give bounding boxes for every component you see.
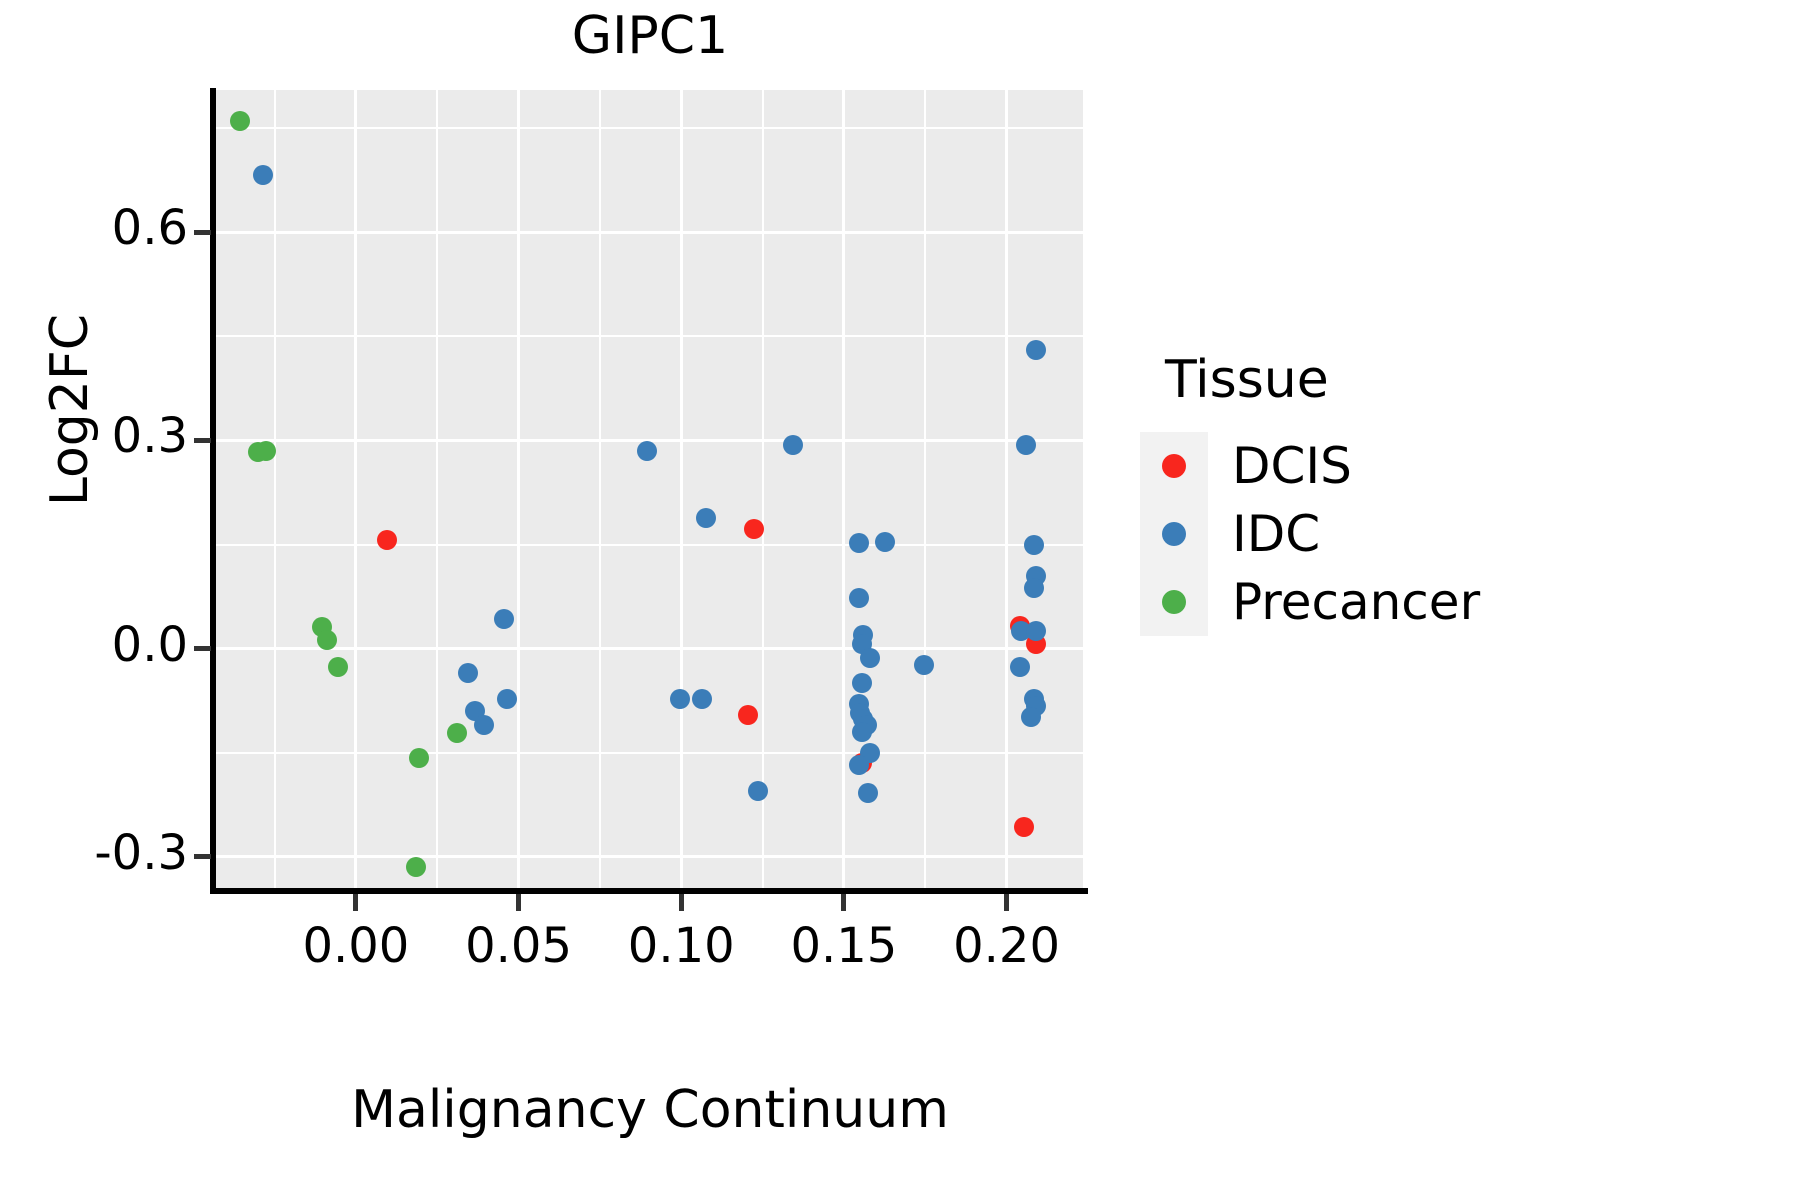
data-point-dcis xyxy=(738,705,758,725)
x-tick-mark xyxy=(1004,894,1009,911)
data-point-idc xyxy=(696,508,716,528)
data-point-idc xyxy=(670,689,690,709)
grid-line-vertical-major xyxy=(354,90,357,888)
grid-line-vertical-major xyxy=(517,90,520,888)
data-point-precancer xyxy=(328,657,348,677)
data-point-idc xyxy=(849,588,869,608)
data-point-idc xyxy=(783,435,803,455)
data-point-idc xyxy=(875,532,895,552)
legend-item-label: IDC xyxy=(1232,505,1320,563)
y-tick-label: -0.3 xyxy=(0,825,188,881)
grid-line-horizontal-major xyxy=(216,647,1083,650)
x-tick-mark xyxy=(841,894,846,911)
data-point-precancer xyxy=(406,857,426,877)
grid-line-horizontal-minor xyxy=(216,544,1083,546)
data-point-dcis xyxy=(744,519,764,539)
data-point-idc xyxy=(748,781,768,801)
data-point-dcis xyxy=(377,530,397,550)
legend-key-swatch xyxy=(1140,432,1208,500)
data-point-idc xyxy=(692,689,712,709)
data-point-precancer xyxy=(317,630,337,650)
x-tick-mark xyxy=(353,894,358,911)
data-point-idc xyxy=(1024,578,1044,598)
y-tick-mark xyxy=(194,646,211,651)
data-point-idc xyxy=(1010,657,1030,677)
grid-line-vertical-minor xyxy=(924,90,926,888)
grid-line-vertical-major xyxy=(1005,90,1008,888)
data-point-idc xyxy=(1016,435,1036,455)
grid-line-horizontal-minor xyxy=(216,127,1083,129)
data-point-idc xyxy=(1026,621,1046,641)
legend-dot-icon xyxy=(1162,590,1186,614)
legend-item-precancer[interactable]: Precancer xyxy=(1140,568,1740,636)
x-axis-title: Malignancy Continuum xyxy=(215,1080,1085,1140)
plot-panel xyxy=(216,90,1083,888)
y-tick-mark xyxy=(194,438,211,443)
data-point-idc xyxy=(1021,707,1041,727)
data-point-idc xyxy=(849,755,869,775)
scatter-plot-figure: GIPC1 Log2FC Malignancy Continuum Tissue… xyxy=(0,0,1800,1200)
legend-key-swatch xyxy=(1140,568,1208,636)
data-point-precancer xyxy=(447,723,467,743)
data-point-idc xyxy=(1024,535,1044,555)
legend: Tissue DCISIDCPrecancer xyxy=(1140,350,1740,636)
grid-line-horizontal-major xyxy=(216,855,1083,858)
grid-line-horizontal-major xyxy=(216,231,1083,234)
legend-item-dcis[interactable]: DCIS xyxy=(1140,432,1740,500)
page-title: GIPC1 xyxy=(215,8,1085,65)
data-point-idc xyxy=(852,673,872,693)
x-tick-mark xyxy=(679,894,684,911)
data-point-idc xyxy=(497,689,517,709)
x-tick-mark xyxy=(516,894,521,911)
data-point-idc xyxy=(458,663,478,683)
grid-line-vertical-minor xyxy=(599,90,601,888)
data-point-idc xyxy=(914,655,934,675)
data-point-idc xyxy=(860,648,880,668)
data-point-idc xyxy=(849,533,869,553)
grid-line-vertical-major xyxy=(680,90,683,888)
x-axis-line xyxy=(210,888,1088,894)
data-point-idc xyxy=(253,165,273,185)
legend-item-idc[interactable]: IDC xyxy=(1140,500,1740,568)
legend-item-label: DCIS xyxy=(1232,437,1352,495)
x-tick-label: 0.20 xyxy=(897,918,1117,974)
grid-line-vertical-minor xyxy=(436,90,438,888)
grid-line-horizontal-minor xyxy=(216,335,1083,337)
data-point-idc xyxy=(494,609,514,629)
grid-line-vertical-major xyxy=(842,90,845,888)
data-point-idc xyxy=(474,715,494,735)
grid-line-vertical-minor xyxy=(762,90,764,888)
data-point-idc xyxy=(637,441,657,461)
legend-dot-icon xyxy=(1162,522,1186,546)
data-point-idc xyxy=(1026,340,1046,360)
y-tick-mark xyxy=(194,854,211,859)
legend-items: DCISIDCPrecancer xyxy=(1140,432,1740,636)
data-point-dcis xyxy=(1014,817,1034,837)
grid-line-vertical-minor xyxy=(274,90,276,888)
y-tick-label: 0.6 xyxy=(0,200,188,256)
data-point-precancer xyxy=(409,748,429,768)
legend-item-label: Precancer xyxy=(1232,573,1480,631)
grid-line-horizontal-minor xyxy=(216,752,1083,754)
legend-dot-icon xyxy=(1162,454,1186,478)
legend-title: Tissue xyxy=(1165,350,1740,410)
y-tick-mark xyxy=(194,230,211,235)
data-point-idc xyxy=(852,722,872,742)
legend-key-swatch xyxy=(1140,500,1208,568)
data-point-idc xyxy=(858,783,878,803)
y-tick-label: 0.3 xyxy=(0,408,188,464)
y-tick-label: 0.0 xyxy=(0,617,188,673)
y-axis-line xyxy=(210,88,216,892)
